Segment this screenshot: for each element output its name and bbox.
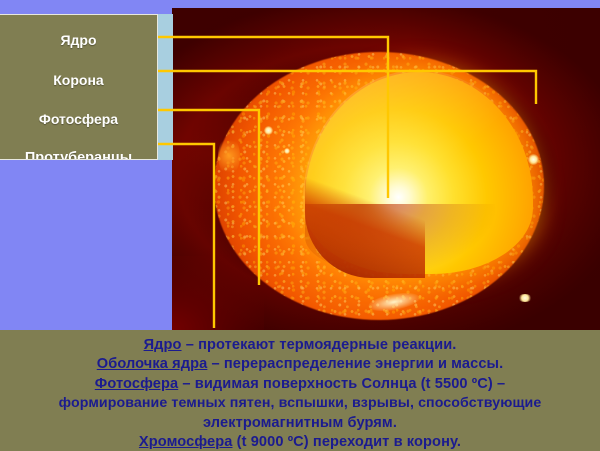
label-item-core: Ядро (0, 33, 157, 47)
flare-spot-3 (528, 154, 539, 165)
caption-rest: – протекают термоядерные реакции. (182, 337, 457, 353)
flare-spot-1 (264, 126, 273, 135)
caption-line: формирование темных пятен, вспышки, взры… (0, 394, 600, 413)
caption-rest: – видимая поверхность Солнца (t 5500 ºС)… (178, 376, 505, 392)
caption-rest: – перераспределение энергии и массы. (207, 356, 503, 372)
label-item-photosphere: Фотосфера (0, 112, 157, 126)
caption-term: Фотосфера (95, 376, 178, 392)
sun-cutaway-image (172, 8, 600, 330)
caption-rest: (t 9000 ºС) переходит в корону. (232, 434, 461, 450)
caption-term: Ядро (144, 337, 182, 353)
prominence-left (218, 136, 240, 176)
caption-line: Оболочка ядра – перераспределение энерги… (0, 355, 600, 374)
label-item-prominences: Протуберанцы (0, 151, 157, 160)
caption-line: Хромосфера (t 9000 ºС) переходит в корон… (0, 433, 600, 451)
callout-strip (157, 14, 173, 160)
caption-line: Ядро – протекают термоядерные реакции. (0, 336, 600, 355)
slide-canvas: Ядро Корона Фотосфера Протуберанцы Хромо… (0, 0, 600, 451)
label-item-corona: Корона (0, 73, 157, 87)
caption-rest: электромагнитным бурям. (203, 415, 397, 431)
caption-rest: формирование темных пятен, вспышки, взры… (59, 395, 542, 411)
caption-term: Оболочка ядра (97, 356, 208, 372)
flare-spot-4 (518, 294, 532, 302)
label-legend-box: Ядро Корона Фотосфера Протуберанцы Хромо… (0, 14, 158, 160)
caption-term: Хромосфера (139, 434, 233, 450)
caption-line: Фотосфера – видимая поверхность Солнца (… (0, 375, 600, 394)
caption-line: электромагнитным бурям. (0, 414, 600, 433)
caption-block: Ядро – протекают термоядерные реакции. О… (0, 330, 600, 451)
flare-spot-2 (284, 148, 290, 154)
